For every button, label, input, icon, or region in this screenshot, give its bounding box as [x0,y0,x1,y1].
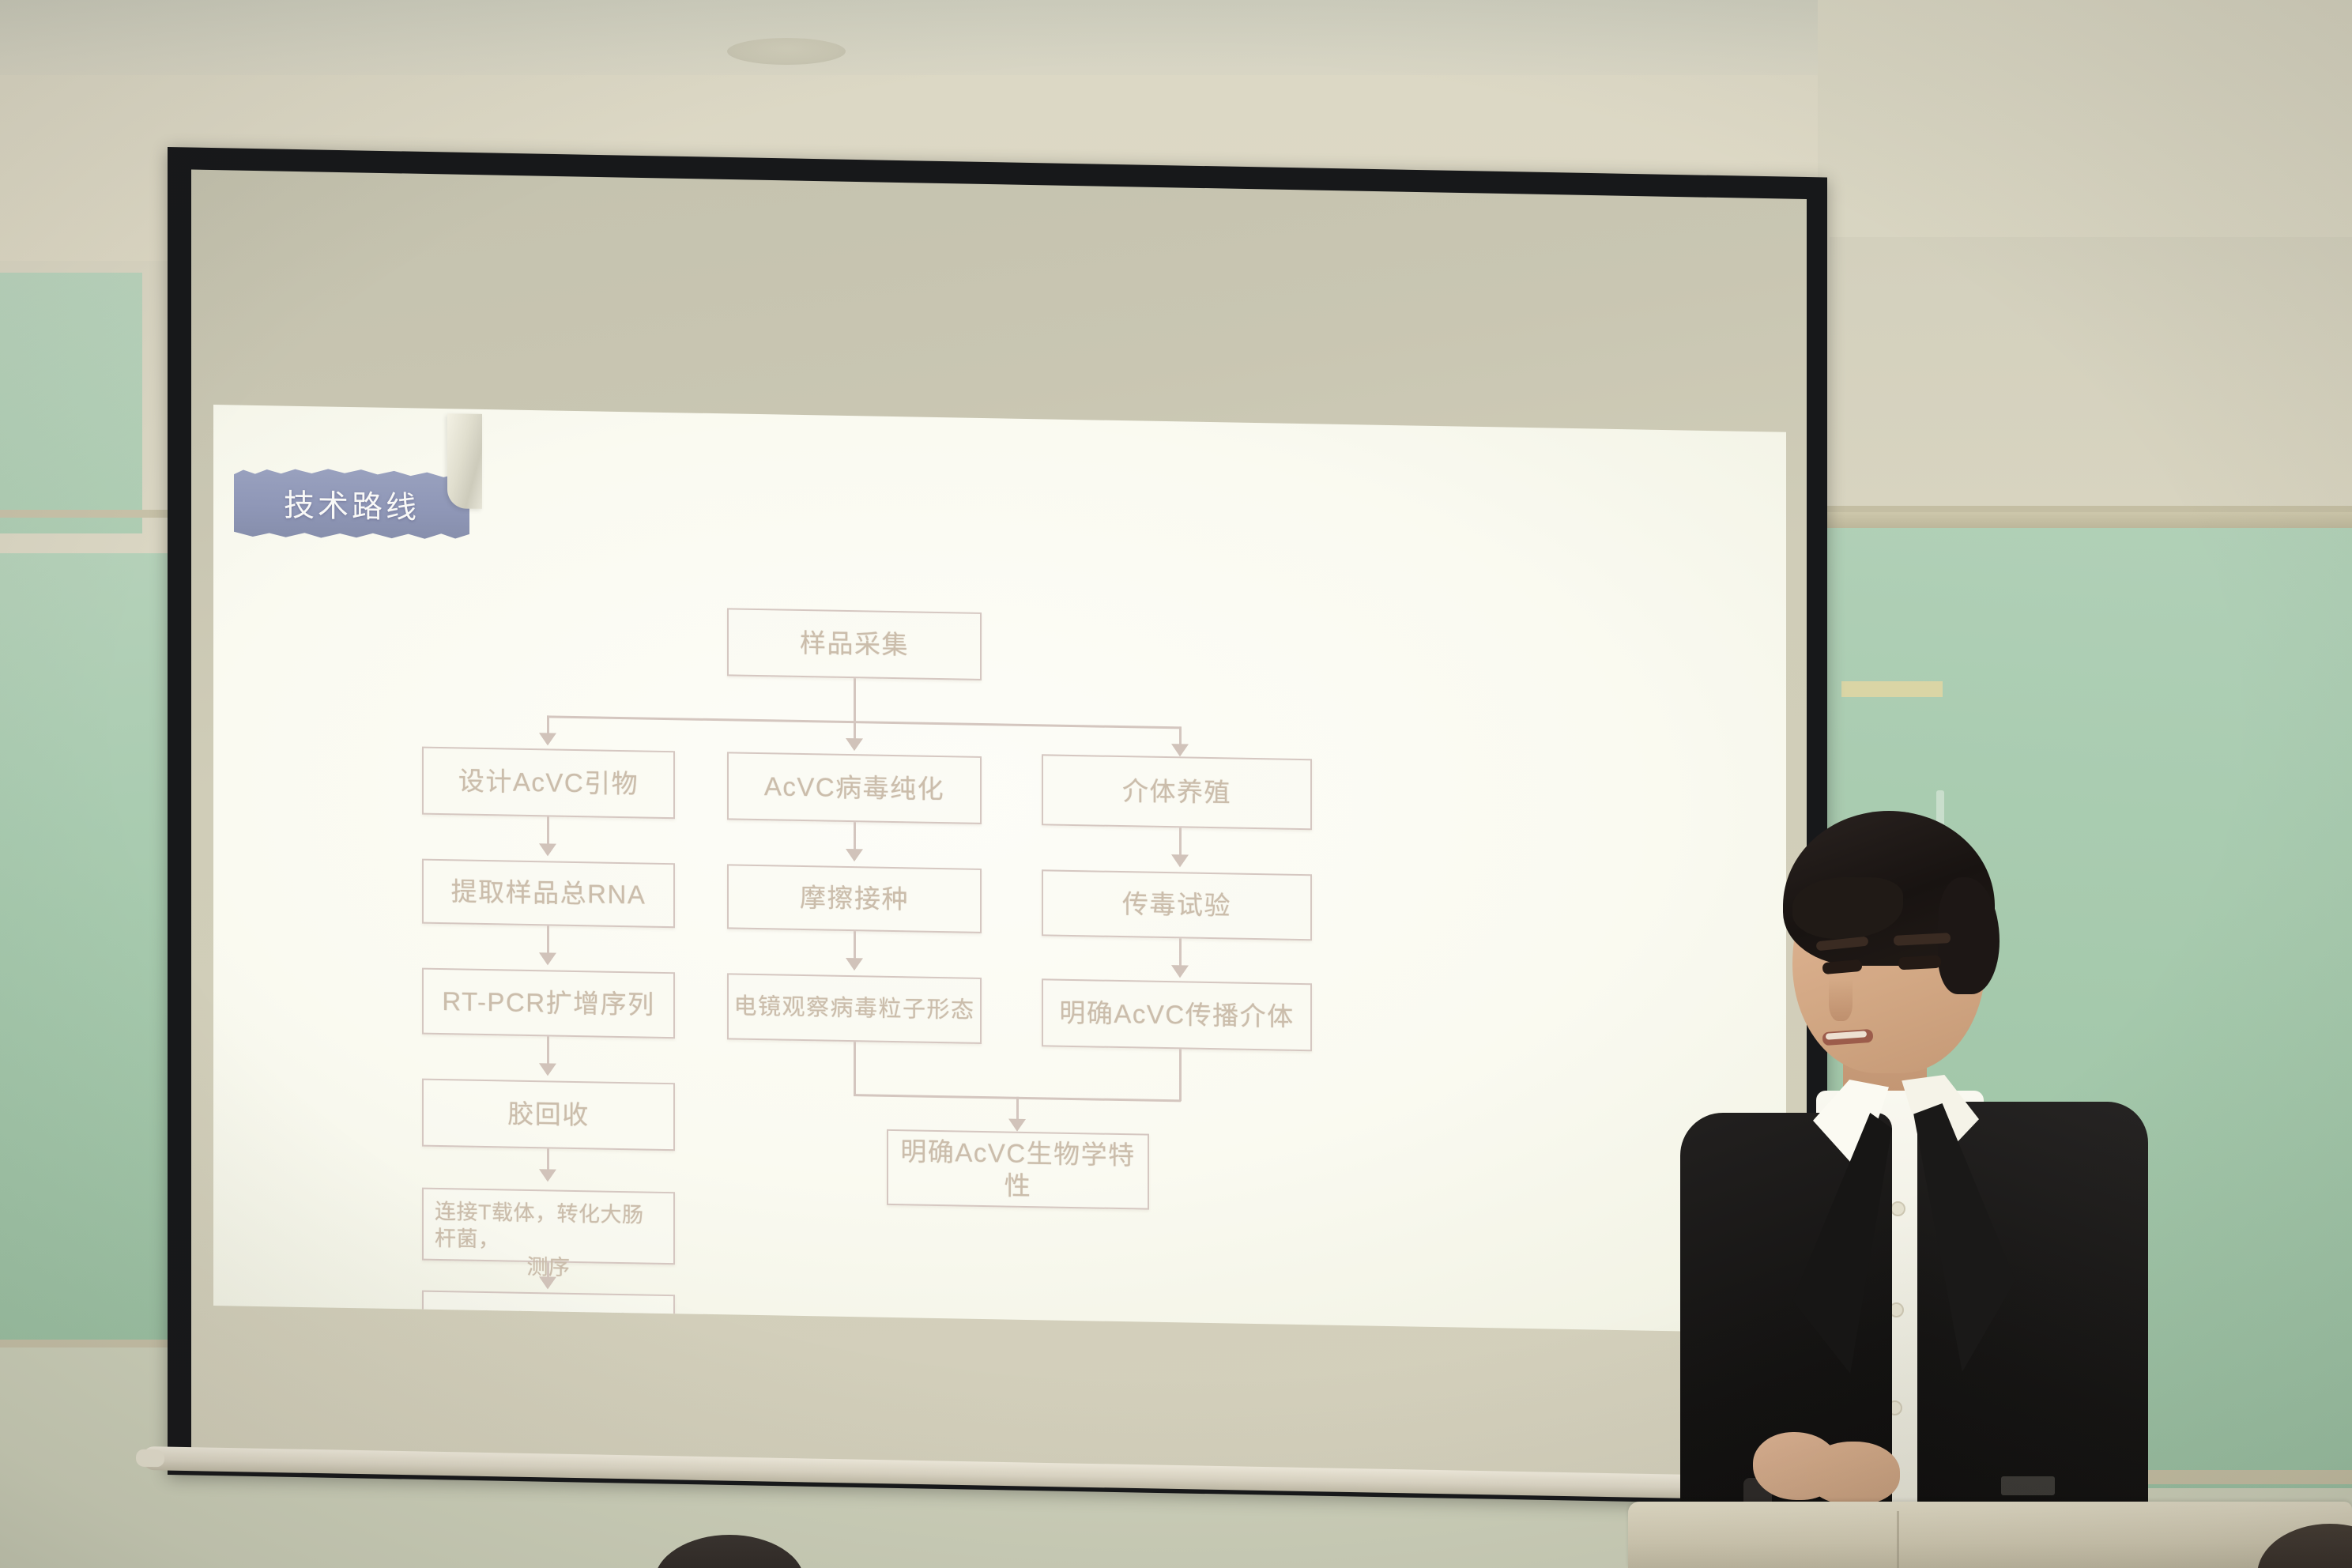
flow-node-sample-collection: 样品采集 [727,608,982,680]
arrow-to-concl1 [1008,1119,1026,1132]
presenter [1660,759,2150,1568]
lecture-hall-photo: 技术路线 样品采集 设计AcVC引物 提取样品总RN [0,0,2352,1568]
presenter-pocket-emblem [2001,1476,2055,1495]
presenter-hand-right [1807,1442,1900,1505]
arrow-c1-4-5 [539,1169,556,1182]
flow-node-virus-purification: AcVC病毒纯化 [727,752,982,824]
arrow-c1-1-2 [539,843,556,856]
flow-node-extract-rna: 提取样品总RNA [422,859,675,929]
arrow-c3-1-2 [1171,854,1189,867]
chalkboard-left [0,553,182,1344]
flow-node-identify-vector: 明确AcVC传播介体 [1042,978,1312,1051]
chalkboard-right-tag [1841,681,1943,697]
flow-node-design-primers: 设计AcVC引物 [422,747,675,820]
presenter-eye-right [1898,955,1942,971]
presenter-shirt-button-1 [1890,1201,1905,1216]
audience-head-left [654,1535,805,1568]
flow-node-line-1: 连接T载体，转化大肠杆菌， [435,1199,662,1257]
front-desk [1628,1502,2352,1568]
arrow-to-col2 [846,738,863,751]
right-wall-upper-panel [1830,237,2352,522]
screen-roller-knob [136,1449,164,1468]
flow-node-em-observation: 电镜观察病毒粒子形态 [727,973,982,1044]
flow-node-rtpcr: RT-PCR扩增序列 [422,968,675,1039]
arrow-c2-1-2 [846,849,863,861]
flow-node-biological-characteristics: 明确AcVC生物学特性 [887,1129,1149,1210]
arrow-c1-3-4 [539,1063,556,1076]
arrow-c1-5-6 [539,1276,556,1289]
arrow-to-col3 [1171,744,1189,756]
presenter-nose [1829,978,1853,1021]
arrow-c3-2-3 [1171,965,1189,978]
connector-distributor [547,715,1181,729]
flow-node-transmission-test: 传毒试验 [1042,869,1312,940]
arrow-c1-2-3 [539,952,556,965]
flow-node-gel-recovery: 胶回收 [422,1079,675,1151]
connector-c3-merge-down [1179,1049,1182,1101]
ceiling-vent-icon [727,38,846,65]
flow-node-vector-rearing: 介体养殖 [1042,754,1312,830]
chalkboard-right-top-trim [1800,512,2352,530]
chalkboard-left-top-trim [0,510,170,518]
arrow-c2-2-3 [846,958,863,971]
front-desk-seam [1897,1511,1899,1568]
connector-c2-merge-down [854,1042,856,1095]
flow-node-mechanical-inoculation: 摩擦接种 [727,864,982,933]
projected-slide: 技术路线 样品采集 设计AcVC引物 提取样品总RN [213,405,1786,1333]
arrow-to-col1 [539,733,556,745]
chalkboard-left-bottom-trim [0,1340,170,1347]
flowchart: 样品采集 设计AcVC引物 提取样品总RNA RT-PCR扩增序列 [213,405,1786,1333]
chalkboard-upper-left [0,273,142,533]
flow-node-ligate-transform-sequence: 连接T载体，转化大肠杆菌， 测序 [422,1188,675,1265]
connector-root-down [854,678,856,721]
